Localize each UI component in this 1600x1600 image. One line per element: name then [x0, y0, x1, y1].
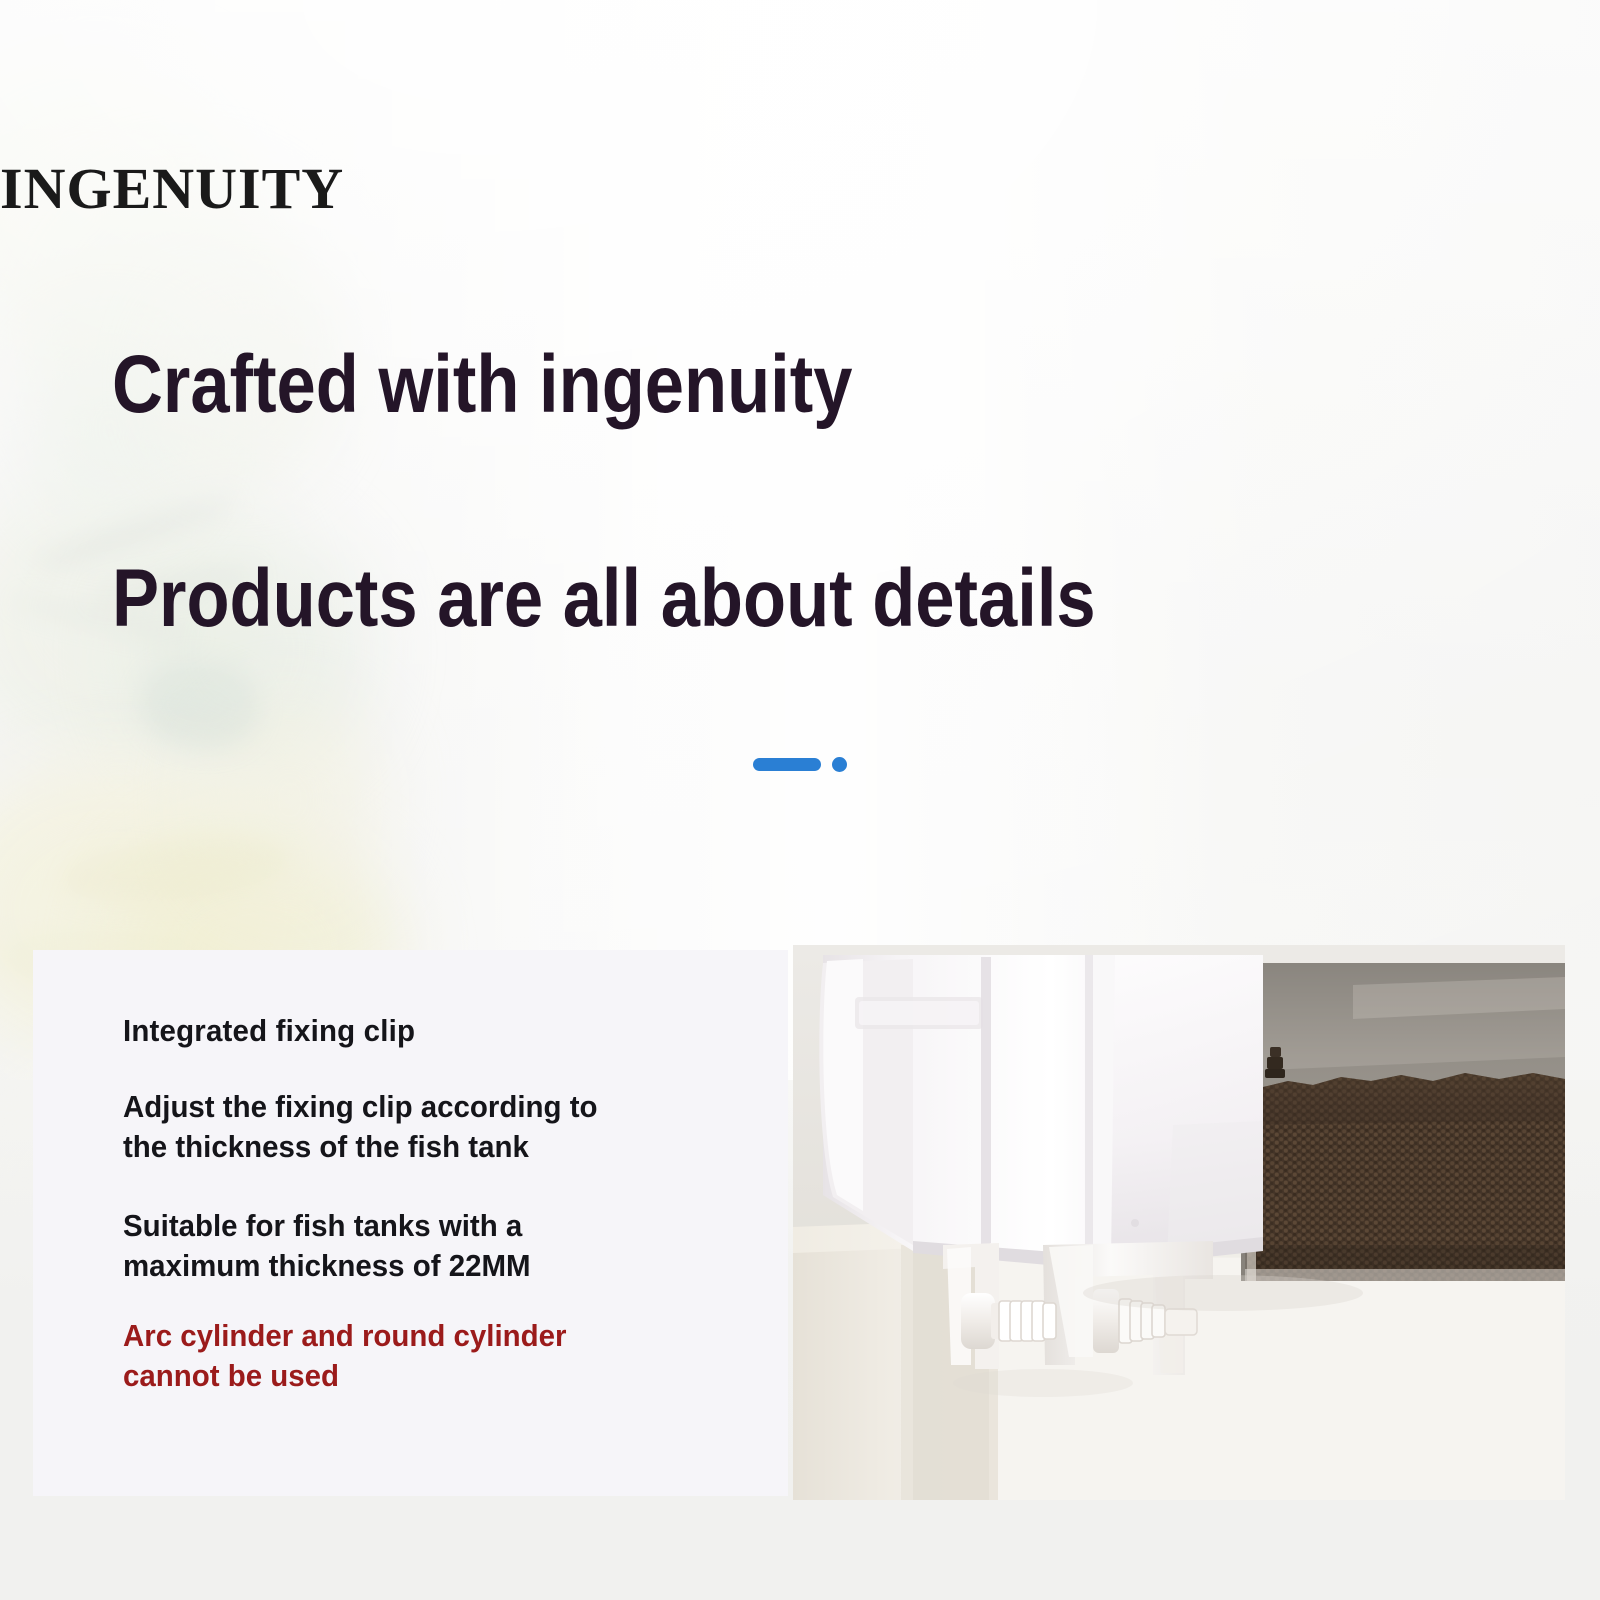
section-divider	[0, 757, 1600, 772]
eyebrow-title: INGENUITY	[0, 160, 1600, 218]
feature-card-paragraph-1: Adjust the fixing clip according to the …	[123, 1087, 636, 1168]
headline-secondary: Products are all about details	[112, 558, 1488, 640]
feature-card-heading: Integrated fixing clip	[123, 1012, 688, 1049]
feature-card-warning-text: Arc cylinder and round cylinder cannot b…	[123, 1316, 636, 1395]
headline-primary: Crafted with ingenuity	[112, 344, 1488, 426]
feature-card-paragraph-2: Suitable for fish tanks with a maximum t…	[123, 1206, 636, 1287]
feature-info-card: Integrated fixing clip Adjust the fixing…	[33, 950, 788, 1496]
divider-bar-icon	[753, 758, 821, 771]
product-photo	[793, 945, 1565, 1500]
fish-feeder-illustration	[793, 945, 1565, 1500]
divider-dot-icon	[832, 757, 847, 772]
marketing-page: INGENUITY Crafted with ingenuity Product…	[0, 0, 1600, 1600]
